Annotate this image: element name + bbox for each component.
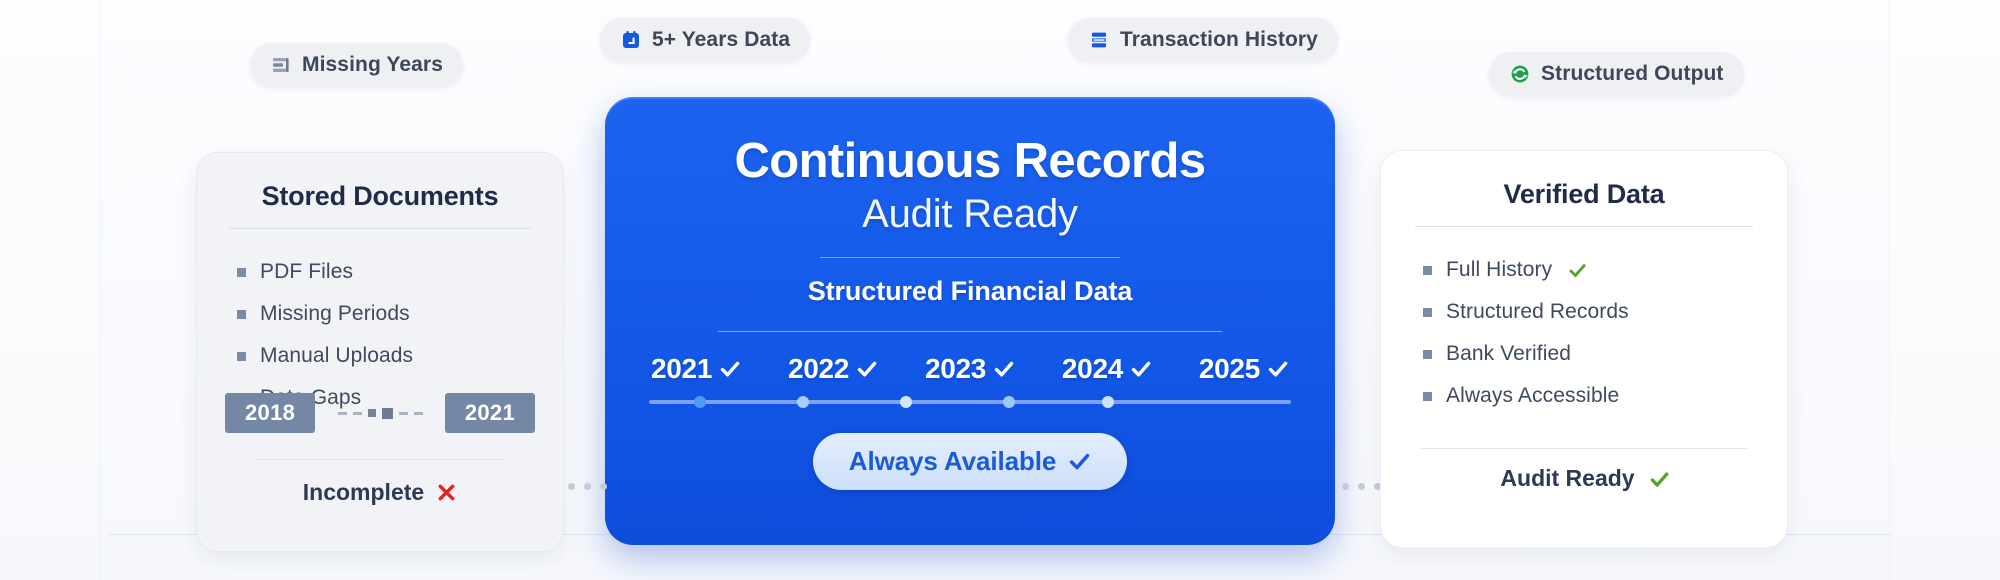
year-item: 2025	[1199, 353, 1289, 385]
calendar-check-icon	[620, 29, 642, 51]
badge-label: Transaction History	[1120, 28, 1318, 52]
square-bullet-icon	[237, 310, 246, 319]
gap-square-small	[368, 409, 376, 417]
card-footer-divider	[1421, 448, 1747, 449]
square-bullet-icon	[1423, 308, 1432, 317]
badge-five-years-data[interactable]: 5+ Years Data	[600, 18, 810, 62]
card-footer-divider	[255, 459, 505, 460]
connector-dot	[1342, 483, 1349, 490]
badge-label: 5+ Years Data	[652, 28, 790, 52]
square-bullet-icon	[1423, 266, 1432, 275]
continuous-records-hero-card: Continuous Records Audit Ready Structure…	[605, 97, 1335, 545]
square-bullet-icon	[237, 268, 246, 277]
green-check-icon	[1568, 261, 1587, 280]
year-item: 2021	[651, 353, 741, 385]
white-check-icon	[1267, 358, 1289, 380]
year-label: 2025	[1199, 353, 1260, 385]
white-check-icon	[1130, 358, 1152, 380]
gap-square-large	[382, 408, 393, 419]
badge-transaction-history[interactable]: Transaction History	[1068, 18, 1338, 62]
card-title-divider	[229, 228, 531, 229]
hero-divider-bottom	[718, 331, 1222, 332]
timeline-dot	[900, 396, 912, 408]
incomplete-status: Incomplete	[197, 479, 563, 506]
hero-subtitle: Audit Ready	[649, 192, 1291, 237]
year-item: 2022	[788, 353, 878, 385]
list-item-label: Bank Verified	[1446, 342, 1571, 366]
ledger-rows-icon	[1088, 29, 1110, 51]
list-item-label: Missing Periods	[260, 302, 410, 326]
white-check-icon	[856, 358, 878, 380]
year-chip-end: 2021	[445, 393, 535, 433]
hero-title: Continuous Records	[649, 135, 1291, 188]
connector-left	[568, 483, 607, 490]
list-item: PDF Files	[225, 251, 535, 293]
list-item: Missing Periods	[225, 293, 535, 335]
year-chip-start: 2018	[225, 393, 315, 433]
connector-dot	[568, 483, 575, 490]
square-bullet-icon	[1423, 350, 1432, 359]
diagram-canvas: Missing Years 5+ Years Data Transaction …	[0, 0, 2000, 580]
year-label: 2023	[925, 353, 986, 385]
sync-refresh-icon	[1509, 63, 1531, 85]
card-title-divider	[1415, 226, 1753, 227]
verified-data-card: Verified Data Full History Structured Re…	[1380, 150, 1788, 548]
green-check-icon	[1649, 469, 1668, 488]
list-item: Bank Verified	[1411, 333, 1757, 375]
connector-dot	[584, 483, 591, 490]
year-label: 2021	[651, 353, 712, 385]
badge-structured-output[interactable]: Structured Output	[1489, 52, 1744, 96]
status-label: Incomplete	[303, 479, 424, 506]
timeline-dot	[1003, 396, 1015, 408]
gap-dash	[414, 412, 423, 415]
stored-documents-card: Stored Documents PDF Files Missing Perio…	[196, 152, 564, 552]
list-item: Full History	[1411, 249, 1757, 291]
year-range-strip: 2018 2021	[225, 393, 535, 433]
timeline-dot	[694, 396, 706, 408]
white-check-icon	[993, 358, 1015, 380]
hero-divider-top	[820, 257, 1120, 258]
red-cross-icon	[436, 482, 457, 503]
verified-data-list: Full History Structured Records Bank Ver…	[1411, 249, 1757, 417]
timeline-dot	[1102, 396, 1114, 408]
gap-dash	[353, 412, 362, 415]
audit-ready-status: Audit Ready	[1381, 465, 1787, 492]
timeline-track	[649, 400, 1291, 404]
list-item-label: Full History	[1446, 258, 1552, 282]
list-item: Manual Uploads	[225, 335, 535, 377]
list-item: Structured Records	[1411, 291, 1757, 333]
connector-dot	[600, 483, 607, 490]
year-item: 2024	[1062, 353, 1152, 385]
badge-label: Missing Years	[302, 53, 443, 77]
blue-check-icon	[1068, 450, 1091, 473]
year-label: 2022	[788, 353, 849, 385]
card-title: Verified Data	[1411, 179, 1757, 210]
list-item-label: PDF Files	[260, 260, 353, 284]
card-title: Stored Documents	[225, 181, 535, 212]
list-item-label: Manual Uploads	[260, 344, 413, 368]
hero-tagline: Structured Financial Data	[649, 276, 1291, 307]
connector-dot	[1358, 483, 1365, 490]
badge-missing-years[interactable]: Missing Years	[250, 43, 463, 87]
year-checklist: 2021 2022 2023 2024	[651, 353, 1289, 385]
always-available-label: Always Available	[849, 446, 1056, 477]
list-item-label: Always Accessible	[1446, 384, 1619, 408]
always-available-wrap: Always Available	[649, 433, 1291, 490]
white-check-icon	[719, 358, 741, 380]
square-bullet-icon	[237, 352, 246, 361]
timeline-dot	[797, 396, 809, 408]
badge-label: Structured Output	[1541, 62, 1724, 86]
connector-right	[1342, 483, 1381, 490]
gap-dash	[338, 412, 347, 415]
stacked-lines-icon	[270, 54, 292, 76]
list-item: Always Accessible	[1411, 375, 1757, 417]
year-item: 2023	[925, 353, 1015, 385]
gap-dash	[399, 412, 408, 415]
status-label: Audit Ready	[1500, 465, 1634, 492]
always-available-button[interactable]: Always Available	[813, 433, 1127, 490]
year-label: 2024	[1062, 353, 1123, 385]
year-timeline	[649, 396, 1291, 408]
square-bullet-icon	[1423, 392, 1432, 401]
data-gap-indicator	[325, 408, 435, 419]
list-item-label: Structured Records	[1446, 300, 1629, 324]
